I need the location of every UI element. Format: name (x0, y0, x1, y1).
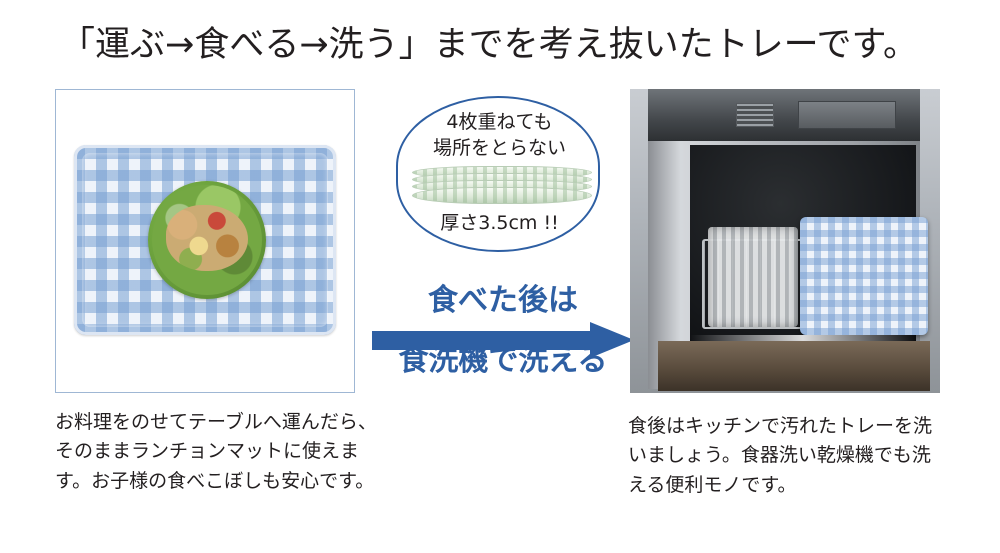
bottom-spacer (0, 539, 1000, 553)
stack-layer-4 (412, 187, 592, 204)
dishwasher-with-tray-photo (630, 89, 940, 393)
salad-food (166, 205, 248, 271)
salad-plate (148, 181, 266, 299)
tray-with-salad-photo (55, 89, 355, 393)
stacked-trays-illustration (412, 166, 592, 206)
dishwasher-top-panel (648, 89, 920, 141)
tray-illustration (74, 145, 336, 335)
right-caption: 食後はキッチンで汚れたトレーを洗いましょう。食器洗い乾燥機でも洗える便利モノです… (628, 412, 948, 500)
page-title: 「運ぶ→食べる→洗う」までを考え抜いたトレーです。 (60, 16, 960, 67)
callout-top-text: 4枚重ねても 場所をとらない (402, 110, 597, 161)
left-caption: お料理をのせてテーブルへ運んだら、そのままランチョンマットに使えます。お子様の食… (55, 408, 385, 496)
dishwasher-vent (736, 103, 774, 127)
promo-banner: 「運ぶ→食べる→洗う」までを考え抜いたトレーです。 4枚重ねても 場所をとらない… (0, 0, 1000, 553)
arrow-head (590, 322, 634, 358)
callout-top-line-2: 場所をとらない (402, 136, 597, 162)
right-arrow-icon (372, 322, 634, 358)
arrow-label-line-1: 食べた後は (428, 283, 578, 318)
stacked-plates (708, 227, 798, 327)
callout-thickness-text: 厚さ3.5cm !! (402, 208, 597, 235)
dishwasher-control-panel (798, 101, 896, 129)
tray-in-dishwasher (800, 217, 928, 335)
arrow-body (372, 331, 594, 350)
dishwasher-open-door (658, 341, 930, 391)
callout-top-line-1: 4枚重ねても (402, 110, 597, 136)
